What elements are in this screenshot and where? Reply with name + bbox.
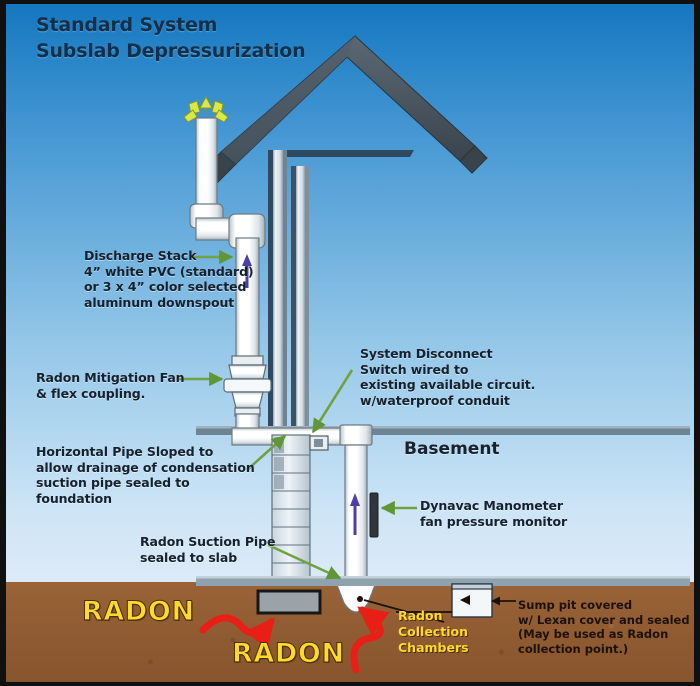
footing-block bbox=[258, 591, 320, 613]
leader-system-disconnect bbox=[313, 370, 352, 432]
exterior-wall bbox=[291, 166, 309, 432]
radon-mitigation-fan-icon bbox=[224, 356, 271, 416]
callout-radon-mitigation-fan: Radon Mitigation Fan & flex coupling. bbox=[36, 370, 186, 401]
system-disconnect-switch-icon bbox=[310, 436, 328, 450]
callout-system-disconnect: System Disconnect Switch wired to existi… bbox=[360, 346, 540, 408]
radon-label-left: RADON bbox=[82, 596, 195, 627]
radon-mitigation-diagram: Standard System Subslab Depressurization… bbox=[0, 0, 700, 686]
basement-label: Basement bbox=[404, 439, 500, 459]
basement-floor-slab bbox=[196, 576, 690, 586]
radon-collection-chambers-label: Radon Collection Chambers bbox=[398, 608, 469, 656]
sump-pit-label: Sump pit covered w/ Lexan cover and seal… bbox=[518, 598, 690, 656]
callout-discharge-stack: Discharge Stack 4” white PVC (standard) … bbox=[84, 248, 264, 310]
page-title: Standard System Subslab Depressurization bbox=[36, 12, 305, 64]
callout-horizontal-pipe: Horizontal Pipe Sloped to allow drainage… bbox=[36, 444, 266, 506]
scene-vector-layer bbox=[0, 0, 700, 686]
radon-label-right: RADON bbox=[232, 638, 345, 669]
callout-radon-suction-pipe: Radon Suction Pipe sealed to slab bbox=[140, 534, 320, 565]
callout-dynavac-manometer: Dynavac Manometer fan pressure monitor bbox=[420, 498, 600, 529]
